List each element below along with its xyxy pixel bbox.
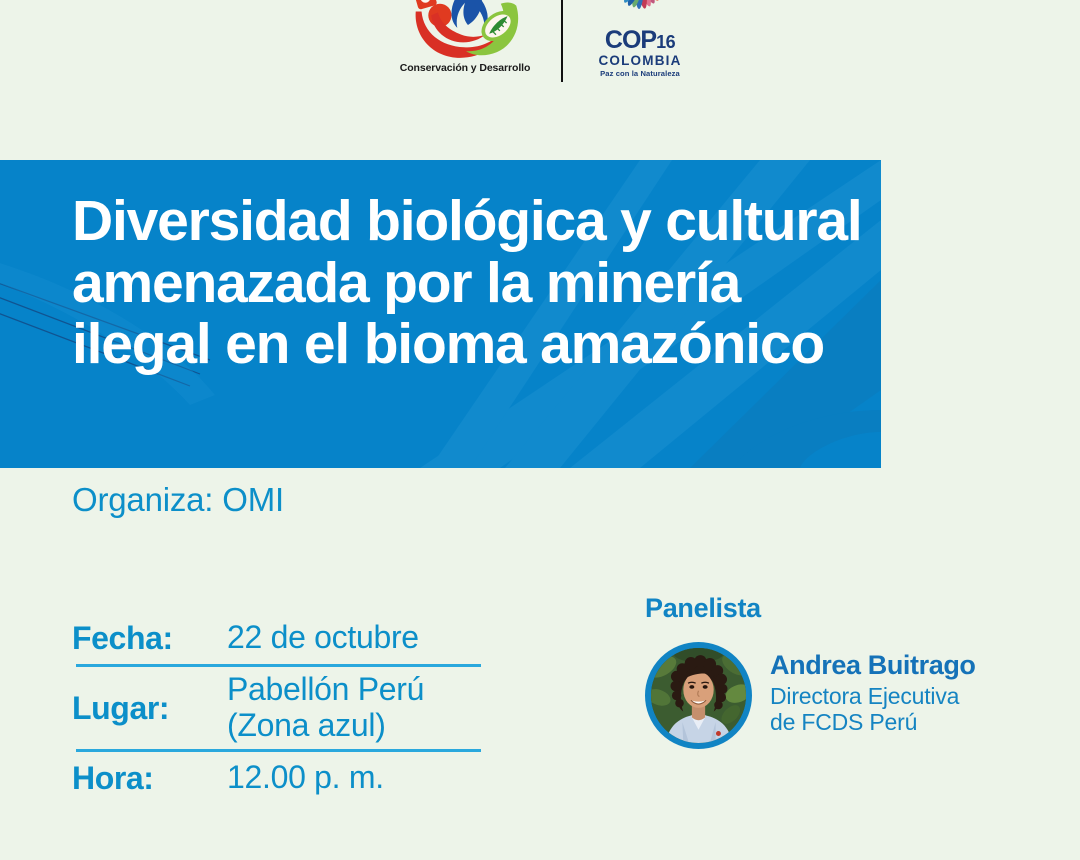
cop16-cop-text: COP (605, 26, 656, 54)
cop16-tagline: Paz con la Naturaleza (590, 70, 690, 78)
detail-value-fecha: 22 de octubre (227, 620, 419, 656)
detail-row-lugar: Lugar: Pabellón Perú(Zona azul) (72, 667, 492, 749)
panelist-card: Andrea Buitrago Directora Ejecutiva de F… (645, 642, 1045, 749)
cop16-number: 16 (656, 32, 675, 52)
logo-row: Conservación y Desarrollo (390, 0, 690, 92)
panelist-role-line1: Directora Ejecutiva (770, 683, 959, 709)
event-title: Diversidad biológica y cultural amenazad… (72, 191, 872, 376)
detail-row-fecha: Fecha: 22 de octubre (72, 612, 492, 664)
panelist-name: Andrea Buitrago (770, 651, 976, 681)
detail-label-lugar: Lugar: (72, 690, 227, 727)
panelist-role-line2: de FCDS Perú (770, 709, 917, 735)
title-banner: Diversidad biológica y cultural amenazad… (0, 160, 881, 468)
detail-value-lugar: Pabellón Perú(Zona azul) (227, 672, 424, 744)
detail-label-fecha: Fecha: (72, 620, 227, 657)
panelist-section: Panelista (645, 593, 1045, 749)
cyd-emblem-icon (408, 0, 524, 64)
avatar (645, 642, 752, 749)
event-details: Fecha: 22 de octubre Lugar: Pabellón Per… (72, 612, 492, 804)
panelist-info: Andrea Buitrago Directora Ejecutiva de F… (770, 651, 976, 740)
panelist-heading: Panelista (645, 593, 1045, 624)
conservacion-y-desarrollo-logo: Conservación y Desarrollo (390, 0, 540, 86)
panelist-role: Directora Ejecutiva de FCDS Perú (770, 683, 976, 736)
cop16-colombia-logo: COP16 COLOMBIA Paz con la Naturaleza (590, 0, 690, 88)
logo-divider (561, 0, 563, 82)
cop16-country: COLOMBIA (590, 54, 690, 68)
header: Conservación y Desarrollo (0, 0, 1080, 100)
cop16-title: COP16 (590, 28, 690, 53)
detail-row-hora: Hora: 12.00 p. m. (72, 752, 492, 804)
cop16-wordmark: COP16 COLOMBIA Paz con la Naturaleza (590, 28, 690, 77)
organizer-label: Organiza: OMI (72, 481, 284, 519)
detail-label-hora: Hora: (72, 760, 227, 797)
org-logo-caption: Conservación y Desarrollo (390, 62, 540, 74)
detail-value-hora: 12.00 p. m. (227, 760, 384, 796)
panelist-photo (651, 648, 746, 743)
